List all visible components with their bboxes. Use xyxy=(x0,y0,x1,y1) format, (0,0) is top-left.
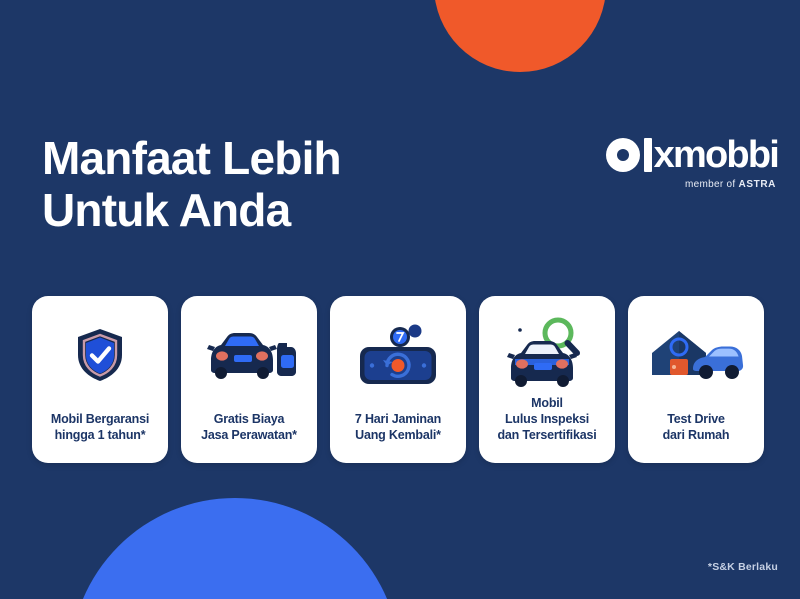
benefit-card-money-back[interactable]: 7 Hari Jaminan Uang Kembali* xyxy=(330,296,466,463)
logo-wordmark: xmobbi xyxy=(606,134,778,176)
banner-header: Manfaat Lebih Untuk Anda xmobbi member o… xyxy=(0,0,800,280)
shield-check-icon xyxy=(69,312,131,398)
benefit-card-label: Gratis Biaya Jasa Perawatan* xyxy=(201,411,297,443)
benefit-card-label: 7 Hari Jaminan Uang Kembali* xyxy=(355,411,441,443)
logo-o-icon xyxy=(606,138,640,172)
car-oil-service-icon xyxy=(201,312,297,398)
money-back-icon xyxy=(352,312,444,398)
logo-tagline: member of ASTRA xyxy=(606,179,778,190)
logo-tagline-brand: ASTRA xyxy=(739,179,776,190)
benefit-card-warranty[interactable]: Mobil Bergaransi hingga 1 tahun* xyxy=(32,296,168,463)
promo-banner: Manfaat Lebih Untuk Anda xmobbi member o… xyxy=(0,0,800,599)
terms-footnote: *S&K Berlaku xyxy=(708,561,778,573)
logo-bar-icon xyxy=(644,138,652,172)
benefit-card-home-test-drive[interactable]: Test Drive dari Rumah xyxy=(628,296,764,463)
car-inspection-magnifier-icon xyxy=(501,312,593,395)
benefits-card-row: Mobil Bergaransi hingga 1 tahun* xyxy=(32,296,768,463)
logo-tagline-prefix: member of xyxy=(685,179,739,190)
benefit-card-label: Test Drive dari Rumah xyxy=(663,411,730,443)
benefit-card-label: Mobil Bergaransi hingga 1 tahun* xyxy=(51,411,149,443)
benefit-card-label: Mobil Lulus Inspeksi dan Tersertifikasi xyxy=(498,395,597,443)
benefit-card-inspection[interactable]: Mobil Lulus Inspeksi dan Tersertifikasi xyxy=(479,296,615,463)
decorative-circle-blue xyxy=(70,498,400,599)
logo-text: xmobbi xyxy=(654,138,778,172)
benefit-card-free-service[interactable]: Gratis Biaya Jasa Perawatan* xyxy=(181,296,317,463)
page-title: Manfaat Lebih Untuk Anda xyxy=(42,133,341,236)
home-test-drive-icon xyxy=(646,312,746,398)
brand-logo: xmobbi member of ASTRA xyxy=(606,134,778,190)
